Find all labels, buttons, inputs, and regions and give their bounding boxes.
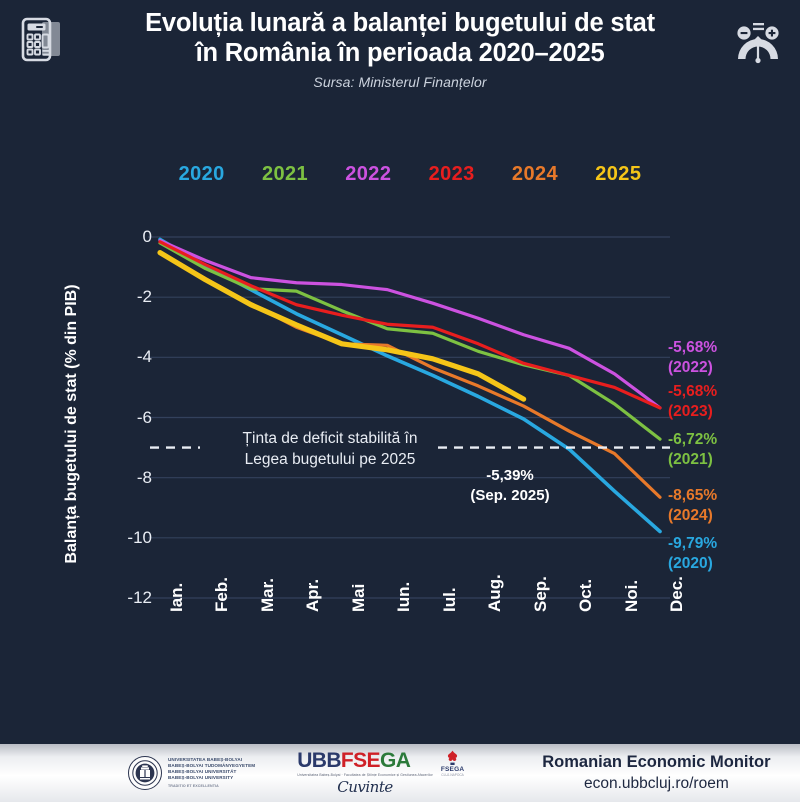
end-label-value: -6,72% [668,430,717,450]
end-label-year: (2020) [668,554,717,574]
ubb-line-3: BABEȘ-BOLYAI UNIVERSITY [168,775,255,781]
x-tick-label-0: Ian. [167,583,187,612]
end-label-2022: -5,68%(2022) [668,338,717,378]
y-tick-label: 0 [108,227,152,247]
note-2025: -5,39% (Sep. 2025) [430,466,590,506]
x-tick-label-9: Oct. [576,579,596,612]
infographic-root: Evoluția lunară a balanței bugetului de … [0,0,800,802]
fsega-ubb: UBB [297,749,341,772]
x-tick-label-11: Dec. [667,576,687,612]
y-tick-label: -12 [108,588,152,608]
end-label-year: (2022) [668,358,717,378]
x-tick-label-8: Sep. [531,576,551,612]
x-tick-label-5: Iun. [394,582,414,612]
fsega-subtitle: Universitatea Babeș-Bolyai · Facultatea … [297,773,433,777]
fsega-emblem-icon: FSEGA CLUJ-NAPOCA [441,750,464,777]
x-tick-label-10: Noi. [622,580,642,612]
fsega-logo: UBBFSEGA Universitatea Babeș-Bolyai · Fa… [297,750,464,796]
roem-branding: Romanian Economic Monitor econ.ubbcluj.r… [542,752,770,794]
roem-url[interactable]: econ.ubbcluj.ro/roem [542,773,770,794]
footer-bar: UNIVERSITATEA BABEȘ-BOLYAIBABEȘ-BOLYAI T… [0,744,800,802]
end-label-value: -5,68% [668,382,717,402]
y-tick-label: -2 [108,287,152,307]
target-line-note: Ținta de deficit stabilită în Legea buge… [205,428,455,470]
y-tick-label: -4 [108,347,152,367]
ubb-seal-icon [128,756,162,790]
ubb-wordmark: UNIVERSITATEA BABEȘ-BOLYAIBABEȘ-BOLYAI T… [168,757,255,790]
ubb-motto: TRADITIO ET EXCELLENTIA [168,783,255,789]
note-2025-value: -5,39% [430,466,590,486]
end-label-2024: -8,65%(2024) [668,486,717,526]
fsega-wordmark: UBBFSEGA [297,750,433,772]
series-line-2025 [160,253,524,400]
x-tick-label-6: Iul. [440,587,460,612]
note-2025-period: (Sep. 2025) [430,486,590,506]
series-line-2023 [160,242,660,408]
x-tick-label-3: Apr. [303,579,323,612]
end-label-2020: -9,79%(2020) [668,534,717,574]
x-tick-label-7: Aug. [485,574,505,612]
roem-title: Romanian Economic Monitor [542,752,770,773]
fsega-ga: GA [380,749,410,772]
end-label-2021: -6,72%(2021) [668,430,717,470]
target-note-line1: Ținta de deficit stabilită în [205,428,455,449]
end-label-year: (2024) [668,506,717,526]
y-tick-label: -10 [108,528,152,548]
x-tick-label-1: Feb. [212,577,232,612]
end-label-2023: -5,68%(2023) [668,382,717,422]
y-axis-ticks: 0-2-4-6-8-10-12 [100,0,152,720]
end-label-year: (2021) [668,450,717,470]
chart-area: Balanța bugetului de stat (% din PIB) 0-… [0,0,800,720]
ubb-logo: UNIVERSITATEA BABEȘ-BOLYAIBABEȘ-BOLYAI T… [128,756,255,790]
y-axis-label: Balanța bugetului de stat (% din PIB) [63,234,81,614]
y-tick-label: -8 [108,468,152,488]
fsega-fse: FSE [341,749,380,772]
x-tick-label-4: Mai [349,584,369,612]
end-label-value: -8,65% [668,486,717,506]
y-tick-label: -6 [108,408,152,428]
end-label-value: -9,79% [668,534,717,554]
fsega-emblem-tiny: CLUJ-NAPOCA [441,773,464,777]
fsega-emblem-label: FSEGA [441,766,464,773]
target-note-line2: Legea bugetului pe 2025 [205,449,455,470]
x-tick-label-2: Mar. [258,578,278,612]
end-label-value: -5,68% [668,338,717,358]
fsega-script: Cuvinte [297,778,433,796]
end-label-year: (2023) [668,402,717,422]
